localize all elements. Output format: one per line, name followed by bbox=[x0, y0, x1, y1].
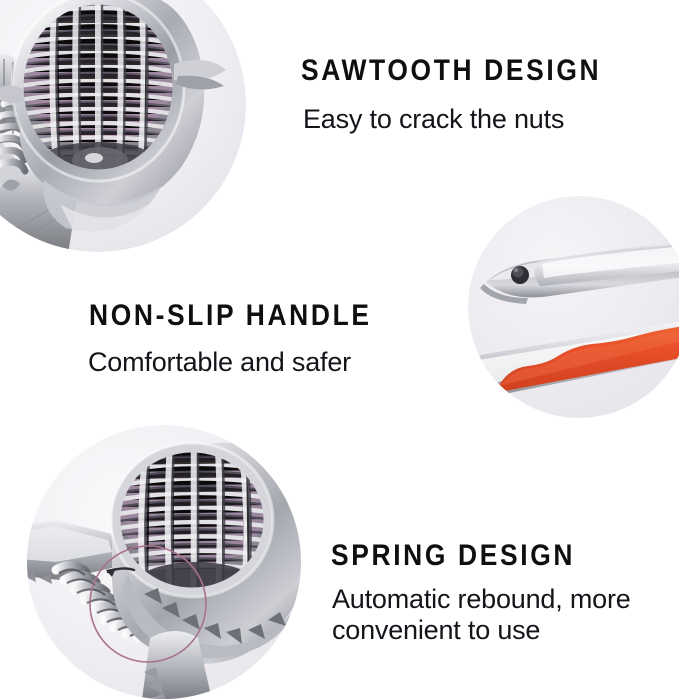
feature-title-spring: SPRING DESIGN bbox=[331, 540, 575, 572]
feature-subtitle-spring-line2: convenient to use bbox=[332, 615, 631, 646]
feature-subtitle-spring: Automatic rebound, more convenient to us… bbox=[332, 584, 631, 646]
feature-title-nonslip: NON-SLIP HANDLE bbox=[89, 300, 372, 332]
nutcracker-spring-photo bbox=[16, 424, 312, 700]
spring-photo-content bbox=[16, 425, 308, 700]
feature-subtitle-spring-line1: Automatic rebound, more bbox=[332, 584, 631, 614]
feature-subtitle-sawtooth: Easy to crack the nuts bbox=[303, 104, 564, 135]
product-infographic-page: SAWTOOTH DESIGN Easy to crack the nuts N… bbox=[0, 0, 679, 700]
nutcracker-handle-grip-photo bbox=[438, 196, 679, 418]
nutcracker-head-sawtooth-photo bbox=[0, 0, 248, 254]
feature-title-sawtooth: SAWTOOTH DESIGN bbox=[301, 55, 601, 87]
feature-subtitle-nonslip: Comfortable and safer bbox=[88, 347, 351, 378]
sawtooth-photo-content bbox=[0, 0, 246, 254]
handle-photo-content bbox=[445, 196, 679, 418]
